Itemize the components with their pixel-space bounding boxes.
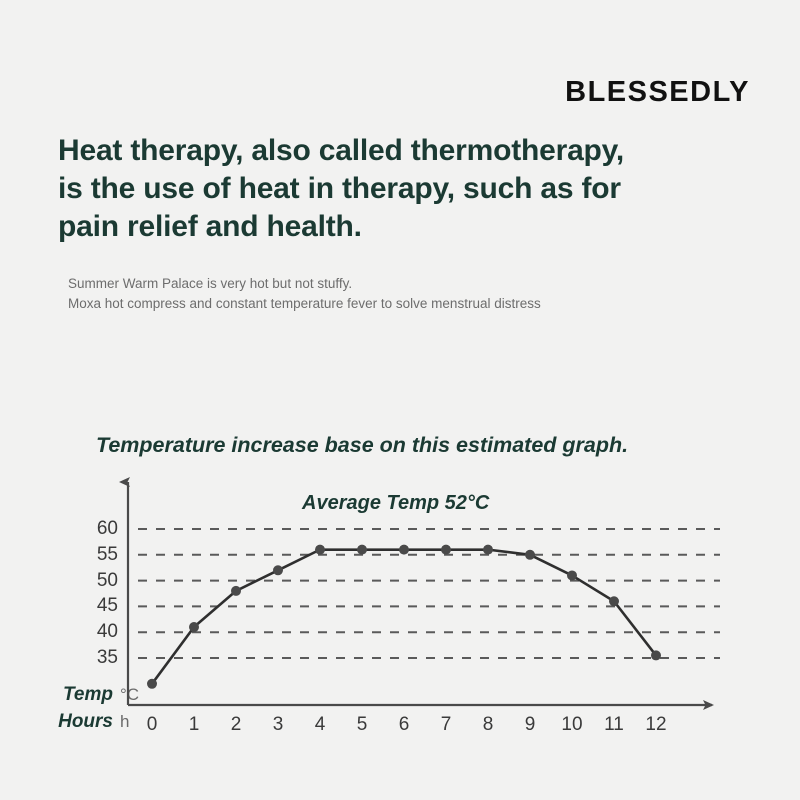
temperature-line [152, 550, 656, 684]
chart-plot-area [0, 0, 800, 800]
data-point-hour-7 [441, 545, 451, 555]
product-promo-page: BLESSEDLY Heat therapy, also called ther… [0, 0, 800, 800]
data-point-hour-0 [147, 679, 157, 689]
data-point-hour-1 [189, 622, 199, 632]
data-point-hour-2 [231, 586, 241, 596]
data-point-hour-3 [273, 565, 283, 575]
data-point-hour-6 [399, 545, 409, 555]
temperature-chart: Temperature increase base on this estima… [0, 0, 800, 800]
temperature-data-points [147, 545, 661, 689]
data-point-hour-5 [357, 545, 367, 555]
data-point-hour-11 [609, 596, 619, 606]
data-point-hour-4 [315, 545, 325, 555]
data-point-hour-9 [525, 550, 535, 560]
data-point-hour-12 [651, 650, 661, 660]
data-point-hour-10 [567, 570, 577, 580]
data-point-hour-8 [483, 545, 493, 555]
